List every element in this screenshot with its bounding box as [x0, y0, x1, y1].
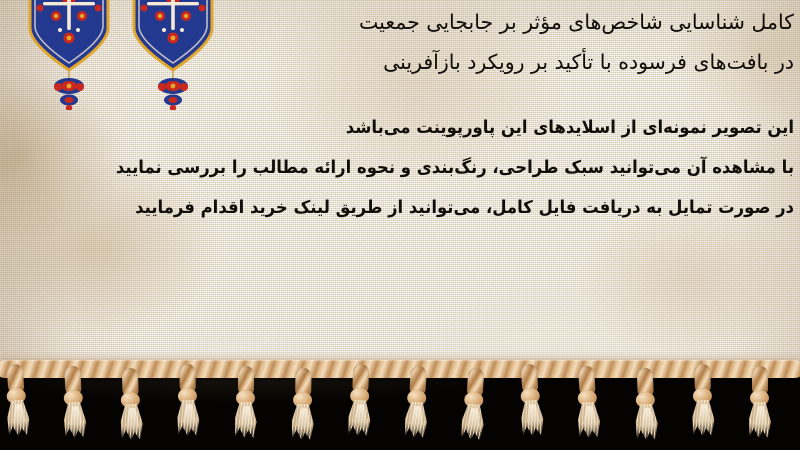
title-line-2: در بافت‌های فرسوده با تأکید بر رویکرد با…	[0, 42, 794, 82]
body-line-3: در صورت تمایل به دریافت فایل کامل، می‌تو…	[48, 188, 794, 228]
fringe-tassel	[574, 365, 604, 438]
body-line-1: این تصویر نمونه‌ای از اسلایدهای این پاور…	[48, 108, 794, 148]
slide-canvas: کامل شناسایی شاخص‌های مؤثر بر جابجایی جم…	[0, 0, 800, 450]
fringe-tassel	[459, 367, 490, 441]
fringe-tassel	[289, 368, 316, 440]
fringe-tassel	[117, 368, 145, 441]
fringe-tassel	[516, 363, 547, 437]
fringe-tassel	[631, 368, 659, 441]
fringe-tassel	[346, 364, 374, 437]
fringe-tassel	[233, 366, 259, 438]
fringe-tassel	[402, 365, 432, 438]
slide-title: کامل شناسایی شاخص‌های مؤثر بر جابجایی جم…	[0, 2, 794, 82]
fringe-tassel	[747, 366, 773, 438]
carpet-fringe	[0, 354, 800, 450]
fringe-tassel	[175, 364, 202, 436]
title-line-1: کامل شناسایی شاخص‌های مؤثر بر جابجایی جم…	[0, 2, 794, 42]
fringe-tassel	[59, 365, 89, 438]
fringe-tassel	[2, 363, 33, 437]
slide-body: این تصویر نمونه‌ای از اسلایدهای این پاور…	[0, 108, 794, 228]
body-line-2: با مشاهده آن می‌توانید سبک طراحی، رنگ‌بن…	[48, 148, 794, 188]
fringe-tassel	[689, 364, 716, 436]
